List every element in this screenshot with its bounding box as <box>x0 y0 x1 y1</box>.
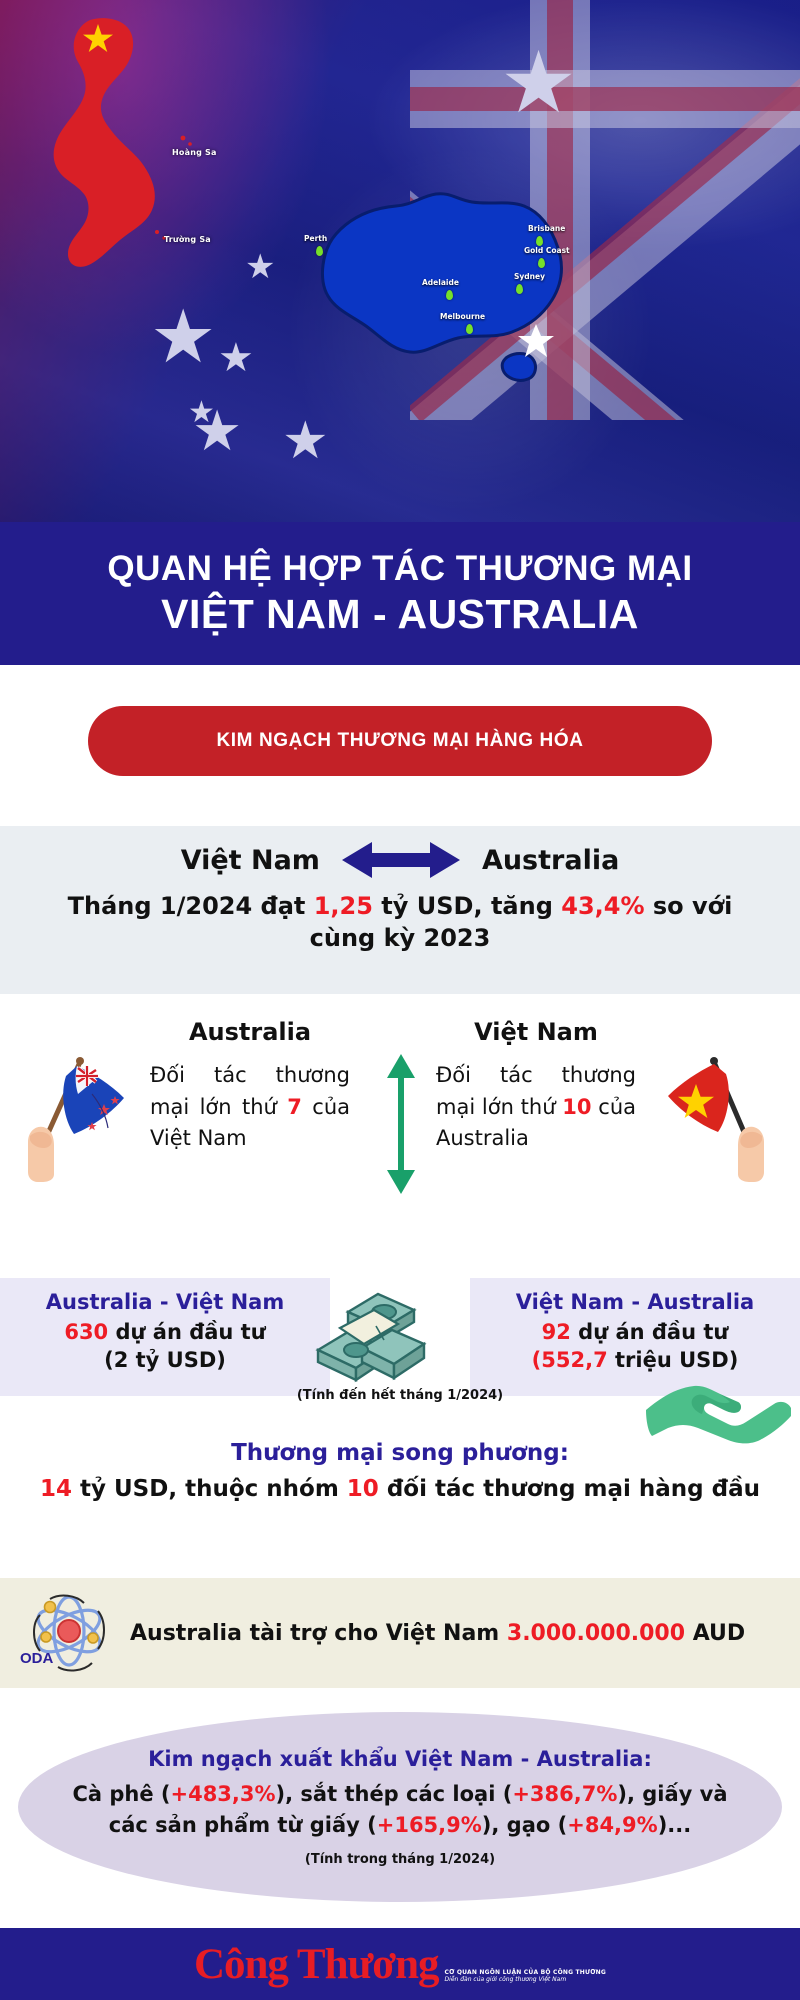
exports-body: Cà phê (+483,3%), sắt thép các loại (+38… <box>18 1779 782 1840</box>
ex-item1-name: Cà phê ( <box>72 1782 170 1806</box>
country-left-label: Việt Nam <box>181 845 320 876</box>
section-header-trade-turnover[interactable]: KIM NGẠCH THƯƠNG MẠI HÀNG HÓA <box>88 706 712 776</box>
tv-text-mid: tỷ USD, tăng <box>373 892 561 920</box>
oda-statement: Australia tài trợ cho Việt Nam 3.000.000… <box>130 1621 745 1646</box>
investment-left-panel: Australia - Việt Nam 630 dự án đầu tư (2… <box>0 1278 330 1396</box>
map-pin-melbourne <box>466 324 473 334</box>
hero-banner: ★ ★ ★ ★ ★ ★ ★ Hoàng Sa Trường Sa Perth A… <box>0 0 800 525</box>
ex-item4-value: +84,9% <box>567 1813 657 1837</box>
oda-badge-text: ODA <box>20 1650 54 1667</box>
handshake-icon <box>642 1358 792 1444</box>
tv-value-amount: 1,25 <box>314 892 373 920</box>
bl-value-1: 14 <box>40 1476 72 1502</box>
city-label-melbourne: Melbourne <box>440 312 485 321</box>
partner-left-column: Australia Đối tác thương mại lớn thứ 7 c… <box>150 1018 350 1155</box>
country-right-label: Australia <box>482 845 619 876</box>
investment-left-amount: (2 tỷ USD) <box>0 1348 330 1372</box>
atom-oda-icon: ODA <box>14 1585 120 1681</box>
investment-right-count: 92 dự án đầu tư <box>470 1320 800 1344</box>
city-label-goldcoast: Gold Coast <box>524 246 570 255</box>
ex-line2-end: )... <box>658 1813 692 1837</box>
tv-text-line2: cùng kỳ 2023 <box>40 922 760 954</box>
investment-left-count: 630 dự án đầu tư <box>0 1320 330 1344</box>
australia-map: Perth Adelaide Melbourne Sydney Gold Coa… <box>300 172 590 387</box>
partners-block: Australia Đối tác thương mại lớn thứ 7 c… <box>0 994 800 1278</box>
map-pin-perth <box>316 246 323 256</box>
trade-volume-statement: Tháng 1/2024 đạt 1,25 tỷ USD, tăng 43,4%… <box>0 890 800 955</box>
tv-value-growth: 43,4% <box>561 892 644 920</box>
star-icon: ★ <box>282 415 329 467</box>
star-icon: ★ <box>218 338 254 378</box>
brand-tagline-line2: Diễn đàn của giới công thương Việt Nam <box>445 1976 607 1983</box>
money-stack-icon <box>300 1266 430 1396</box>
vietnam-flag-in-hand-icon <box>652 1032 772 1182</box>
city-label-perth: Perth <box>304 234 327 243</box>
vertical-double-arrow-icon <box>384 1054 418 1194</box>
inv-right-count-label: dự án đầu tư <box>571 1320 729 1344</box>
star-icon: ★ <box>192 404 242 460</box>
partner-right-text: Đối tác thương mại lớn thứ 10 của Austra… <box>436 1060 636 1155</box>
inv-right-open: ( <box>532 1348 542 1372</box>
bilateral-statement: 14 tỷ USD, thuộc nhóm 10 đối tác thương … <box>0 1476 800 1502</box>
title-band: QUAN HỆ HỢP TÁC THƯƠNG MẠI VIỆT NAM - AU… <box>0 522 800 665</box>
bilateral-trade-block: Thương mại song phương: 14 tỷ USD, thuộc… <box>0 1440 800 1502</box>
map-pin-brisbane <box>536 236 543 246</box>
island-label-truongsa: Trường Sa <box>164 235 211 244</box>
partner-right-title: Việt Nam <box>436 1018 636 1046</box>
map-pin-sydney <box>516 284 523 294</box>
star-icon: ★ <box>245 250 275 284</box>
oda-amount: 3.000.000.000 <box>507 1621 685 1646</box>
brand-logo[interactable]: Công Thương CƠ QUAN NGÔN LUẬN CỦA BỘ CÔN… <box>194 1943 606 1986</box>
title-line-1: QUAN HỆ HỢP TÁC THƯƠNG MẠI <box>107 549 692 589</box>
brand-logo-text: Công Thương <box>194 1943 439 1986</box>
bl-value-2: 10 <box>347 1476 379 1502</box>
trade-volume-block: Việt Nam Australia Tháng 1/2024 đạt 1,25… <box>0 826 800 994</box>
inv-left-number: 630 <box>64 1320 108 1344</box>
title-line-2: VIỆT NAM - AUSTRALIA <box>161 591 639 638</box>
star-icon: ★ <box>150 300 216 374</box>
star-icon: ★ <box>500 40 577 126</box>
investment-left-title: Australia - Việt Nam <box>0 1290 330 1314</box>
tv-text-pre: Tháng 1/2024 đạt <box>68 892 314 920</box>
partner-left-title: Australia <box>150 1018 350 1046</box>
ex-item2-value: +386,7% <box>512 1782 617 1806</box>
pl-rank: 7 <box>287 1095 302 1119</box>
brand-tagline-line1: CƠ QUAN NGÔN LUẬN CỦA BỘ CÔNG THƯƠNG <box>445 1969 607 1976</box>
partner-left-text: Đối tác thương mại lớn thứ 7 của Việt Na… <box>150 1060 350 1155</box>
city-label-sydney: Sydney <box>514 272 545 281</box>
city-label-adelaide: Adelaide <box>422 278 459 287</box>
map-pin-adelaide <box>446 290 453 300</box>
island-label-hoangsa: Hoàng Sa <box>172 148 217 157</box>
tv-text-post: so với <box>645 892 733 920</box>
oda-pre: Australia tài trợ cho Việt Nam <box>130 1621 507 1646</box>
brand-tagline: CƠ QUAN NGÔN LUẬN CỦA BỘ CÔNG THƯƠNG Diễ… <box>445 1969 607 1983</box>
city-label-brisbane: Brisbane <box>528 224 565 233</box>
exports-note: (Tính trong tháng 1/2024) <box>305 1852 495 1867</box>
oda-currency: AUD <box>685 1621 745 1646</box>
ex-item1-end: ), sắt thép các loại ( <box>276 1782 513 1806</box>
map-pin-goldcoast <box>538 258 545 268</box>
inv-left-count-label: dự án đầu tư <box>108 1320 266 1344</box>
bl-mid-1: tỷ USD, thuộc nhóm <box>72 1476 347 1502</box>
inv-right-value: 552,7 <box>541 1348 607 1372</box>
bl-mid-2: đối tác thương mại hàng đầu <box>379 1476 760 1502</box>
ex-line2-mid: ), gạo ( <box>482 1813 567 1837</box>
partner-right-column: Việt Nam Đối tác thương mại lớn thứ 10 c… <box>436 1018 636 1155</box>
trade-volume-countries: Việt Nam Australia <box>0 840 800 880</box>
ex-item3-value: +165,9% <box>377 1813 482 1837</box>
pr-rank: 10 <box>562 1095 591 1119</box>
section-header-label: KIM NGẠCH THƯƠNG MẠI HÀNG HÓA <box>216 730 583 752</box>
oda-block: ODA Australia tài trợ cho Việt Nam 3.000… <box>0 1578 800 1688</box>
investment-right-title: Việt Nam - Australia <box>470 1290 800 1314</box>
footer-bar: Công Thương CƠ QUAN NGÔN LUẬN CỦA BỘ CÔN… <box>0 1928 800 2000</box>
australia-flag-in-hand-icon <box>20 1032 140 1182</box>
ex-line2-pre: phẩm từ giấy ( <box>204 1813 377 1837</box>
inv-right-number: 92 <box>542 1320 571 1344</box>
double-arrow-icon <box>342 840 460 880</box>
ex-item1-value: +483,3% <box>170 1782 275 1806</box>
exports-ellipse-block: Kim ngạch xuất khẩu Việt Nam - Australia… <box>18 1712 782 1902</box>
exports-heading: Kim ngạch xuất khẩu Việt Nam - Australia… <box>148 1747 652 1771</box>
